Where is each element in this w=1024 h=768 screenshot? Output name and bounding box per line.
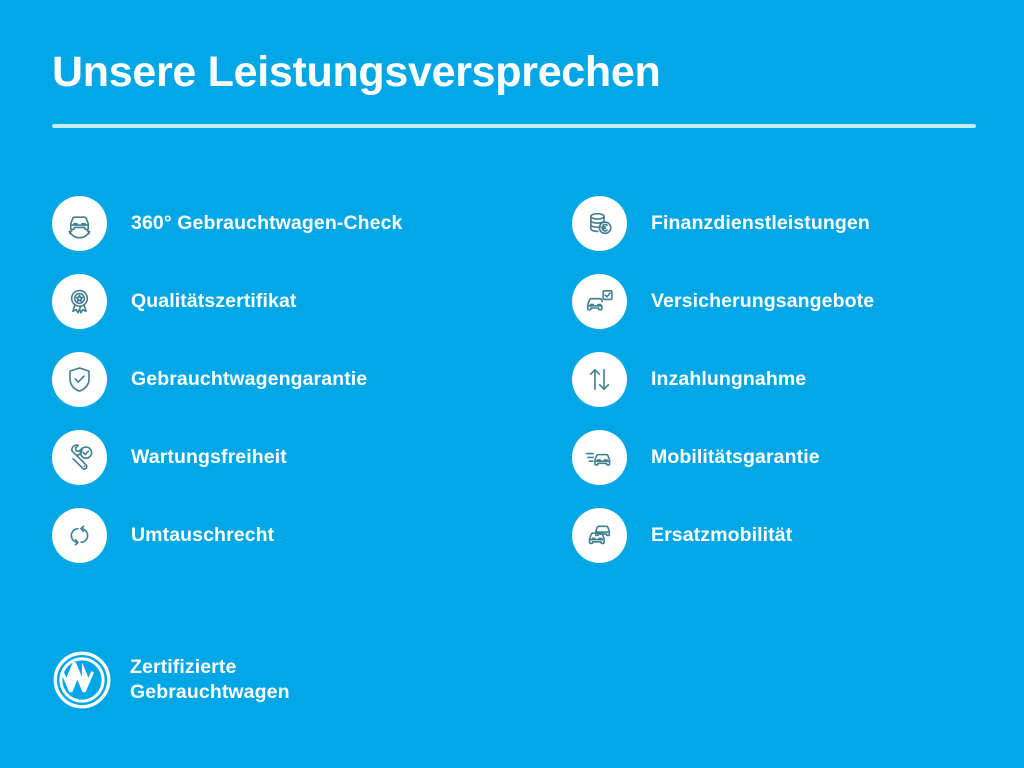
coins-euro-icon — [572, 196, 627, 251]
promise-column-left: 360° Gebrauchtwagen-Check Qualitätszerti… — [52, 196, 572, 563]
promise-item-exchange-right[interactable]: Umtauschrecht — [52, 508, 572, 563]
promise-label: Versicherungsangebote — [651, 290, 874, 313]
promise-item-insurance-offers[interactable]: Versicherungsangebote — [572, 274, 982, 329]
title-divider — [52, 124, 976, 128]
promise-column-right: Finanzdienstleistungen Versicherungsange… — [572, 196, 982, 563]
brand-line-1: Zertifizierte — [130, 655, 290, 680]
promise-item-360-check[interactable]: 360° Gebrauchtwagen-Check — [52, 196, 572, 251]
exchange-arrows-icon — [52, 508, 107, 563]
brand-text: Zertifizierte Gebrauchtwagen — [130, 655, 290, 705]
promise-slide: Unsere Leistungsversprechen — [0, 0, 1024, 768]
car-360-check-icon — [52, 196, 107, 251]
car-motion-icon — [572, 430, 627, 485]
promise-label: Gebrauchtwagengarantie — [131, 368, 367, 391]
wrench-check-icon — [52, 430, 107, 485]
promise-item-financial-services[interactable]: Finanzdienstleistungen — [572, 196, 982, 251]
promise-label: Umtauschrecht — [131, 524, 274, 547]
promise-item-replacement-mobility[interactable]: Ersatzmobilität — [572, 508, 982, 563]
shield-check-icon — [52, 352, 107, 407]
promise-label: Mobilitätsgarantie — [651, 446, 820, 469]
volkswagen-logo-icon — [52, 650, 112, 710]
promise-label: Finanzdienstleistungen — [651, 212, 870, 235]
award-rosette-icon — [52, 274, 107, 329]
promise-columns: 360° Gebrauchtwagen-Check Qualitätszerti… — [52, 196, 982, 563]
slide-header: Unsere Leistungsversprechen — [52, 48, 976, 128]
promise-label: Wartungsfreiheit — [131, 446, 287, 469]
promise-item-trade-in[interactable]: Inzahlungnahme — [572, 352, 982, 407]
promise-label: Ersatzmobilität — [651, 524, 792, 547]
promise-label: Inzahlungnahme — [651, 368, 806, 391]
promise-item-warranty[interactable]: Gebrauchtwagengarantie — [52, 352, 572, 407]
promise-item-mobility-guarantee[interactable]: Mobilitätsgarantie — [572, 430, 982, 485]
promise-label: Qualitätszertifikat — [131, 290, 297, 313]
promise-item-quality-certificate[interactable]: Qualitätszertifikat — [52, 274, 572, 329]
promise-label: 360° Gebrauchtwagen-Check — [131, 212, 402, 235]
brand-line-2: Gebrauchtwagen — [130, 680, 290, 705]
page-title: Unsere Leistungsversprechen — [52, 48, 976, 96]
brand-lockup: Zertifizierte Gebrauchtwagen — [52, 650, 290, 710]
car-checklist-icon — [572, 274, 627, 329]
promise-item-maintenance-free[interactable]: Wartungsfreiheit — [52, 430, 572, 485]
up-down-arrows-icon — [572, 352, 627, 407]
two-cars-icon — [572, 508, 627, 563]
